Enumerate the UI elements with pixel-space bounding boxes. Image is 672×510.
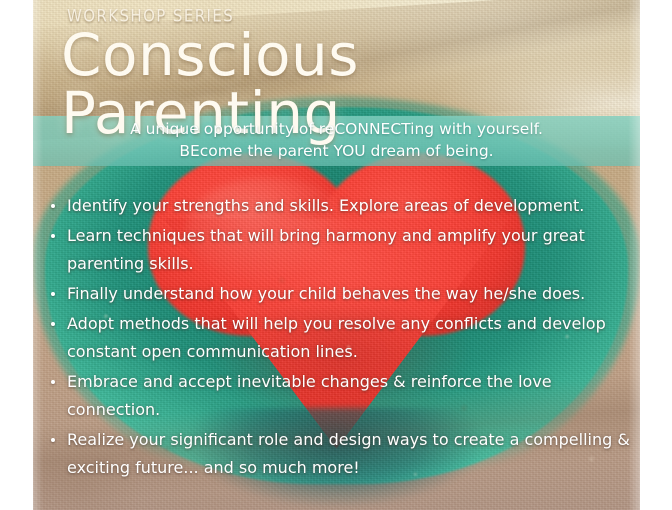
poster-artwork: WORKSHOP SERIES Conscious Parenting A un… — [33, 0, 640, 510]
list-item: Finally understand how your child behave… — [45, 280, 637, 308]
list-item: Embrace and accept inevitable changes & … — [45, 368, 637, 424]
benefits-list: Identify your strengths and skills. Expl… — [45, 192, 637, 484]
list-item: Realize your significant role and design… — [45, 426, 637, 482]
flyer-canvas: WORKSHOP SERIES Conscious Parenting A un… — [0, 0, 672, 510]
list-item: Adopt methods that will help you resolve… — [45, 310, 637, 366]
subtitle-line-2: BEcome the parent YOU dream of being. — [33, 142, 640, 160]
list-item: Learn techniques that will bring harmony… — [45, 222, 637, 278]
text-layer: WORKSHOP SERIES Conscious Parenting A un… — [33, 0, 640, 510]
subtitle-line-1: A unique opportunity of reCONNECTing wit… — [33, 120, 640, 138]
list-item: Identify your strengths and skills. Expl… — [45, 192, 637, 220]
